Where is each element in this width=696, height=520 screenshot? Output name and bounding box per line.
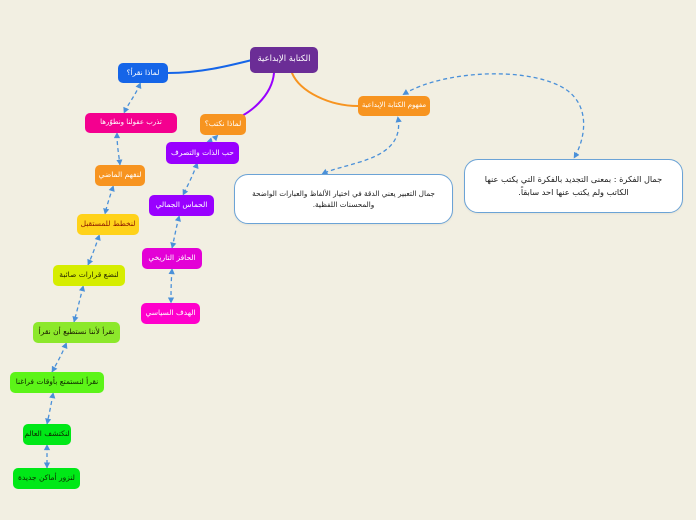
node-understand-the-past[interactable]: لنفهم الماضي — [95, 165, 145, 186]
node-political-purpose[interactable]: الهدف السياسي — [141, 303, 200, 324]
node-discover-the-world[interactable]: لنكتشف العالم — [23, 424, 71, 445]
node-plan-for-the-future[interactable]: لنخطط للمستقبل — [77, 214, 139, 235]
edge-can-read-to-leisure — [52, 344, 66, 372]
edge-root-to-concept — [292, 73, 358, 106]
node-we-read-because-we-can[interactable]: نقرأ لأننا نستطيع أن نقرأ — [33, 322, 120, 343]
edge-plan-future-to-right-decisions — [88, 236, 99, 265]
node-we-read-to-enjoy-free-time[interactable]: نقرأ لنستمتع بأوقات فراغنا — [10, 372, 104, 393]
node-aesthetic-enthusiasm[interactable]: الحماس الجمالي — [149, 195, 214, 216]
node-visit-new-places[interactable]: لنزور أماكن جديدة — [13, 468, 80, 489]
node-root-creative-writing[interactable]: الكتابة الإبداعية — [250, 47, 318, 73]
node-why-read[interactable]: لماذا نقرأ؟ — [118, 63, 168, 83]
node-self-love-and-behavior[interactable]: حب الذات والتصرف — [166, 142, 239, 164]
node-make-right-decisions[interactable]: لنضع قرارات صائبة — [53, 265, 125, 286]
edge-train-minds-to-understand-past — [117, 134, 120, 165]
node-why-write[interactable]: لماذا نكتب؟ — [200, 114, 246, 135]
node-train-our-minds[interactable]: تذرب عقولنا ونطوّرها — [85, 113, 177, 133]
edge-why-read-to-train-minds — [124, 84, 140, 113]
mindmap-canvas: الكتابة الإبداعيةلماذا نقرأ؟لماذا نكتب؟م… — [0, 0, 696, 520]
edge-aesthetic-to-historical — [172, 217, 179, 248]
edge-historical-to-political — [171, 270, 172, 303]
edge-understand-past-to-plan-future — [105, 187, 113, 214]
edge-leisure-to-discover — [47, 394, 53, 424]
node-concept-of-creative-writing[interactable]: مفهوم الكتابة الإبداعية — [358, 96, 430, 116]
edge-concept-to-expression-callout — [322, 118, 399, 174]
callout-beauty-of-expression[interactable]: جمال التعبير يعني الدقة في اختيار الألفا… — [234, 174, 453, 224]
callout-beauty-of-idea[interactable]: جمال الفكرة : بمعنى التجديد بالفكرة التي… — [464, 159, 683, 213]
node-historical-impulse[interactable]: الحافز التاريخي — [142, 248, 202, 269]
edge-concept-to-idea-callout — [404, 74, 584, 158]
edge-right-decisions-to-can-read — [74, 287, 83, 322]
edge-root-to-why-read — [168, 60, 252, 73]
edge-self-love-to-aesthetic — [183, 164, 197, 195]
edge-layer — [0, 0, 696, 520]
